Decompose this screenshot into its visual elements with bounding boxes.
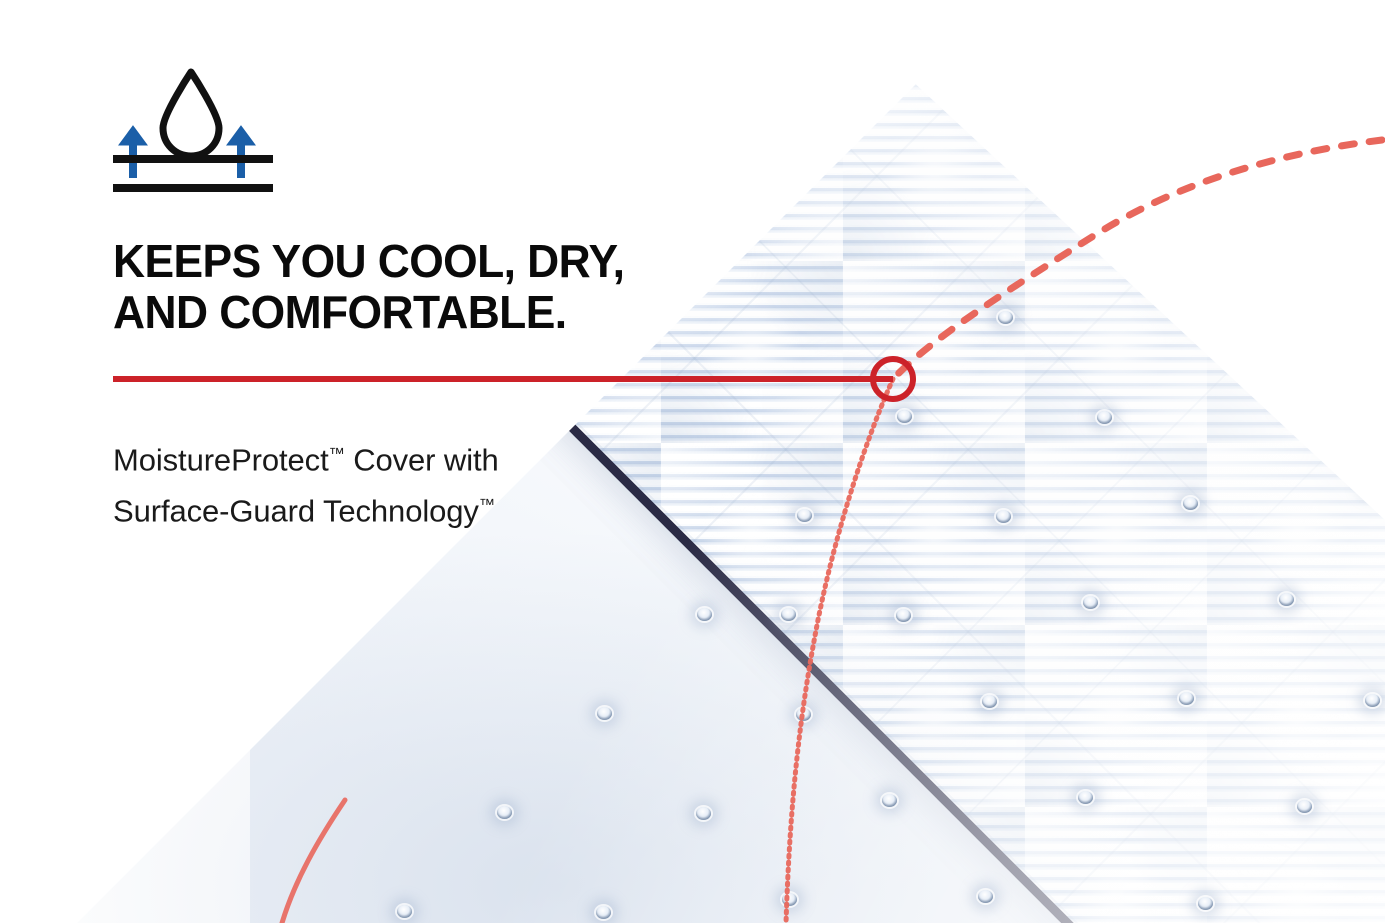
tufting-button (1097, 411, 1112, 424)
tufting-button (1297, 800, 1312, 813)
product-name-surface-guard: Surface-Guard Technology (113, 493, 479, 528)
feature-description-line-2: Surface-Guard Technology™ (113, 483, 673, 534)
callout-rule (113, 376, 893, 382)
feature-callout-stage: KEEPS YOU COOL, DRY, AND COMFORTABLE. Mo… (0, 0, 1385, 923)
tufting-button (1183, 497, 1198, 510)
moisture-wicking-icon-svg (113, 66, 283, 201)
water-droplet-icon (163, 72, 219, 156)
tufting-button (996, 510, 1011, 523)
tufting-button (782, 893, 797, 906)
feature-description-line-1: MoistureProtect™ Cover with (113, 432, 673, 483)
tufting-button (1179, 692, 1194, 705)
product-name-moistureprotect: MoistureProtect (113, 443, 329, 478)
page-title: KEEPS YOU COOL, DRY, AND COMFORTABLE. (113, 236, 731, 338)
upward-arrow-icons (119, 126, 255, 178)
tufting-button (1279, 593, 1294, 606)
tufting-button (596, 906, 611, 919)
callout-target-circle (870, 356, 916, 402)
tufting-button (982, 695, 997, 708)
moisture-wicking-icon (113, 66, 283, 201)
tufting-button (978, 890, 993, 903)
feature-description: MoistureProtect™ Cover with Surface-Guar… (113, 432, 673, 533)
tufting-button (896, 609, 911, 622)
tufting-button (781, 608, 796, 621)
tufting-button (1083, 596, 1098, 609)
tufting-button (497, 806, 512, 819)
feature-description-line-1-rest: Cover with (345, 443, 499, 478)
tufting-button (1365, 694, 1380, 707)
trademark-symbol: ™ (479, 496, 495, 514)
tufting-button (998, 311, 1013, 324)
tufting-button (597, 707, 612, 720)
tufting-button (1078, 791, 1093, 804)
tufting-button (696, 807, 711, 820)
tufting-button (797, 509, 812, 522)
trademark-symbol: ™ (329, 445, 345, 463)
tufting-button (697, 608, 712, 621)
tufting-button (882, 794, 897, 807)
tufting-button (397, 905, 412, 918)
tufting-button (1198, 897, 1213, 910)
tufting-button (796, 708, 811, 721)
tufting-button (897, 410, 912, 423)
